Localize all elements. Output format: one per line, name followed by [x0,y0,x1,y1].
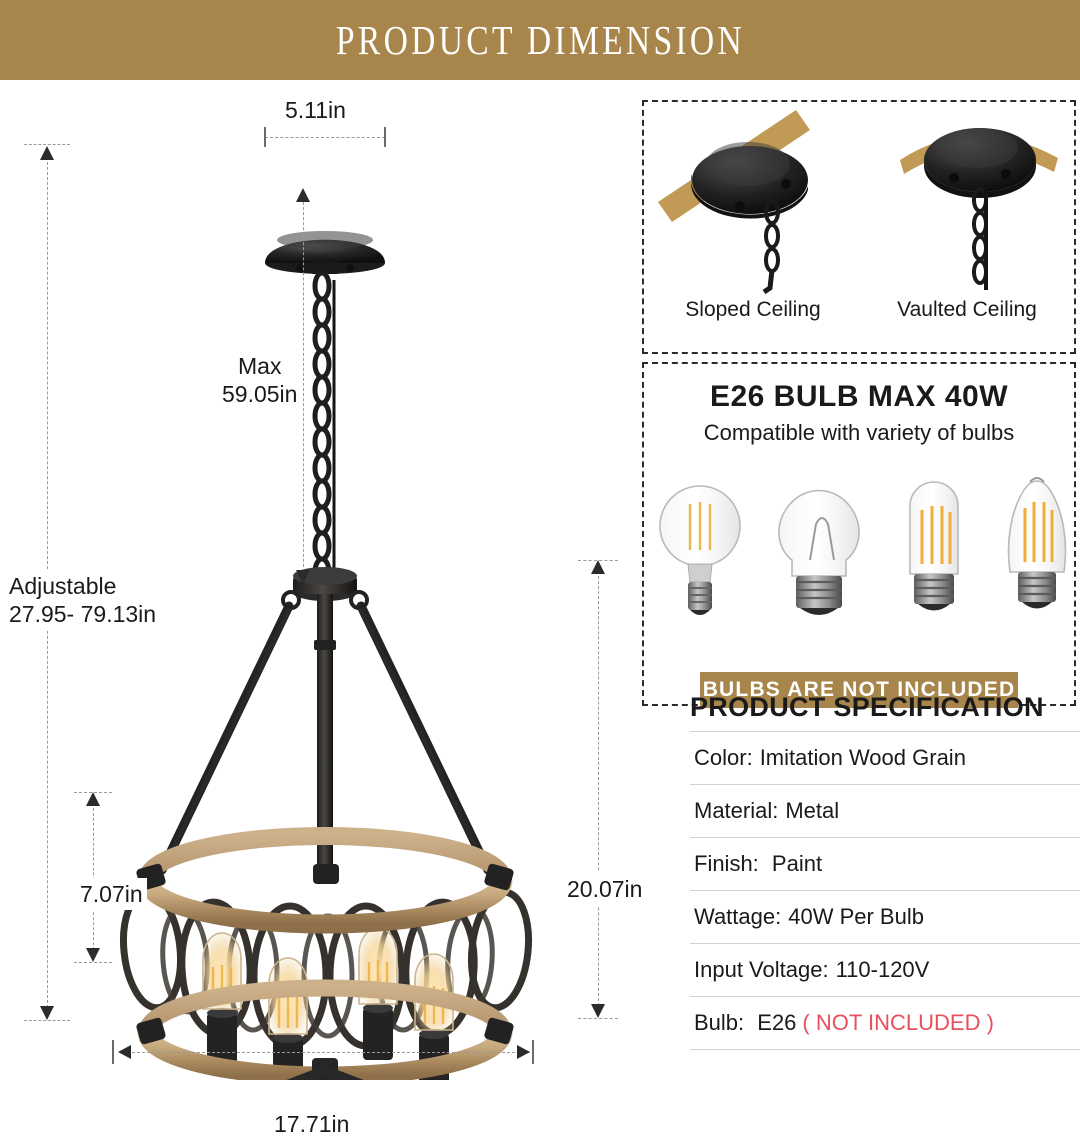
adjustable-label-line1: Adjustable [9,573,116,599]
bulb-subtitle: Compatible with variety of bulbs [644,420,1074,446]
adjustable-arrow-up [40,146,54,160]
spec-value-wattage: 40W Per Bulb [788,904,924,929]
adjustable-label-line2: 27.95- 79.13in [9,601,156,627]
vaulted-ceiling-icon [900,128,1058,290]
drum-height-cap-bottom [74,962,112,963]
spec-row-material: Material:Metal [690,784,1080,837]
standard-a19-bulb-icon [779,491,859,616]
sloped-ceiling-caption: Sloped Ceiling [658,298,848,322]
fixture-height-label: 20.07in [565,872,644,906]
max-drop-arrow-up [296,188,310,202]
spec-row-finish: Finish: Paint [690,837,1080,890]
product-dimension-diagram: 5.11in Max59.05in Adjustable27.95- 79.13… [0,80,640,1080]
fixture-width-tick-left [112,1040,114,1064]
fixture-width-line [122,1052,530,1053]
spec-key-voltage: Input Voltage: [694,957,829,982]
fixture-height-line [598,566,599,1016]
tubular-t45-bulb-icon [910,482,958,611]
spec-note-bulb: ( NOT INCLUDED ) [802,1010,994,1035]
spec-key-bulb: Bulb: [694,1010,744,1035]
fixture-width-arrow-right [517,1045,530,1059]
specification-title: PRODUCT SPECIFICATION [690,692,1080,731]
fixture-width-label: 17.71in [268,1110,355,1138]
adjustable-cap-top [24,144,70,145]
fixture-height-arrow-down [591,1004,605,1018]
spec-row-voltage: Input Voltage:110-120V [690,943,1080,996]
spec-row-wattage: Wattage:40W Per Bulb [690,890,1080,943]
sloped-ceiling-icon [658,110,810,292]
hanging-chain [315,273,334,585]
page-title: PRODUCT DIMENSION [335,16,744,64]
spec-value-color: Imitation Wood Grain [760,745,966,770]
drum-height-arrow-up [86,792,100,806]
max-drop-arrow-down [296,570,310,584]
spec-value-material: Metal [785,798,839,823]
fixture-height-arrow-up [591,560,605,574]
adjustable-label: Adjustable27.95- 79.13in [6,570,159,630]
canopy-width-tick-right [384,127,386,147]
vaulted-ceiling-caption: Vaulted Ceiling [872,298,1062,322]
fixture-height-cap-bottom [578,1018,618,1019]
spec-key-finish: Finish: [694,851,759,876]
spec-value-voltage: 110-120V [836,957,930,982]
fixture-height-cap-top [578,560,618,561]
fixture-width-arrow-left [118,1045,131,1059]
spec-key-material: Material: [694,798,778,823]
page-header: PRODUCT DIMENSION [0,0,1080,80]
max-drop-label-line1: Max [238,353,281,379]
adjustable-cap-bottom [24,1020,70,1021]
canopy-width-line [265,137,385,138]
drum-height-label: 7.07in [76,878,147,910]
spec-value-bulb: E26 [751,1010,796,1035]
canopy-width-label: 5.11in [285,96,346,124]
bulb-compatibility-box: E26 BULB MAX 40W Compatible with variety… [642,362,1076,706]
spec-key-wattage: Wattage: [694,904,781,929]
adjustable-arrow-down [40,1006,54,1020]
spec-key-color: Color: [694,745,753,770]
ceiling-canopy [265,231,385,274]
drum-height-arrow-down [86,948,100,962]
right-info-column: Sloped Ceiling Vaulted Ceiling E26 BULB … [640,80,1080,1080]
globe-bulb-icon [660,486,740,615]
edison-st64-bulb-icon [1009,478,1066,609]
spec-value-finish: Paint [766,851,822,876]
max-drop-label: Max59.05in [222,352,297,408]
fixture-width-tick-right [532,1040,534,1064]
drum-height-cap-top [74,792,112,793]
bulb-title: E26 BULB MAX 40W [644,380,1074,414]
light-bulbs [203,928,453,1080]
max-drop-label-line2: 59.05in [222,381,297,407]
max-drop-line [303,192,304,582]
ceiling-compatibility-box: Sloped Ceiling Vaulted Ceiling [642,100,1076,354]
spec-row-color: Color:Imitation Wood Grain [690,731,1080,784]
spec-row-bulb: Bulb: E26( NOT INCLUDED ) [690,996,1080,1050]
product-specification-table: PRODUCT SPECIFICATION Color:Imitation Wo… [690,692,1080,1050]
canopy-width-tick-left [264,127,266,147]
bulb-illustrations [644,464,1074,654]
